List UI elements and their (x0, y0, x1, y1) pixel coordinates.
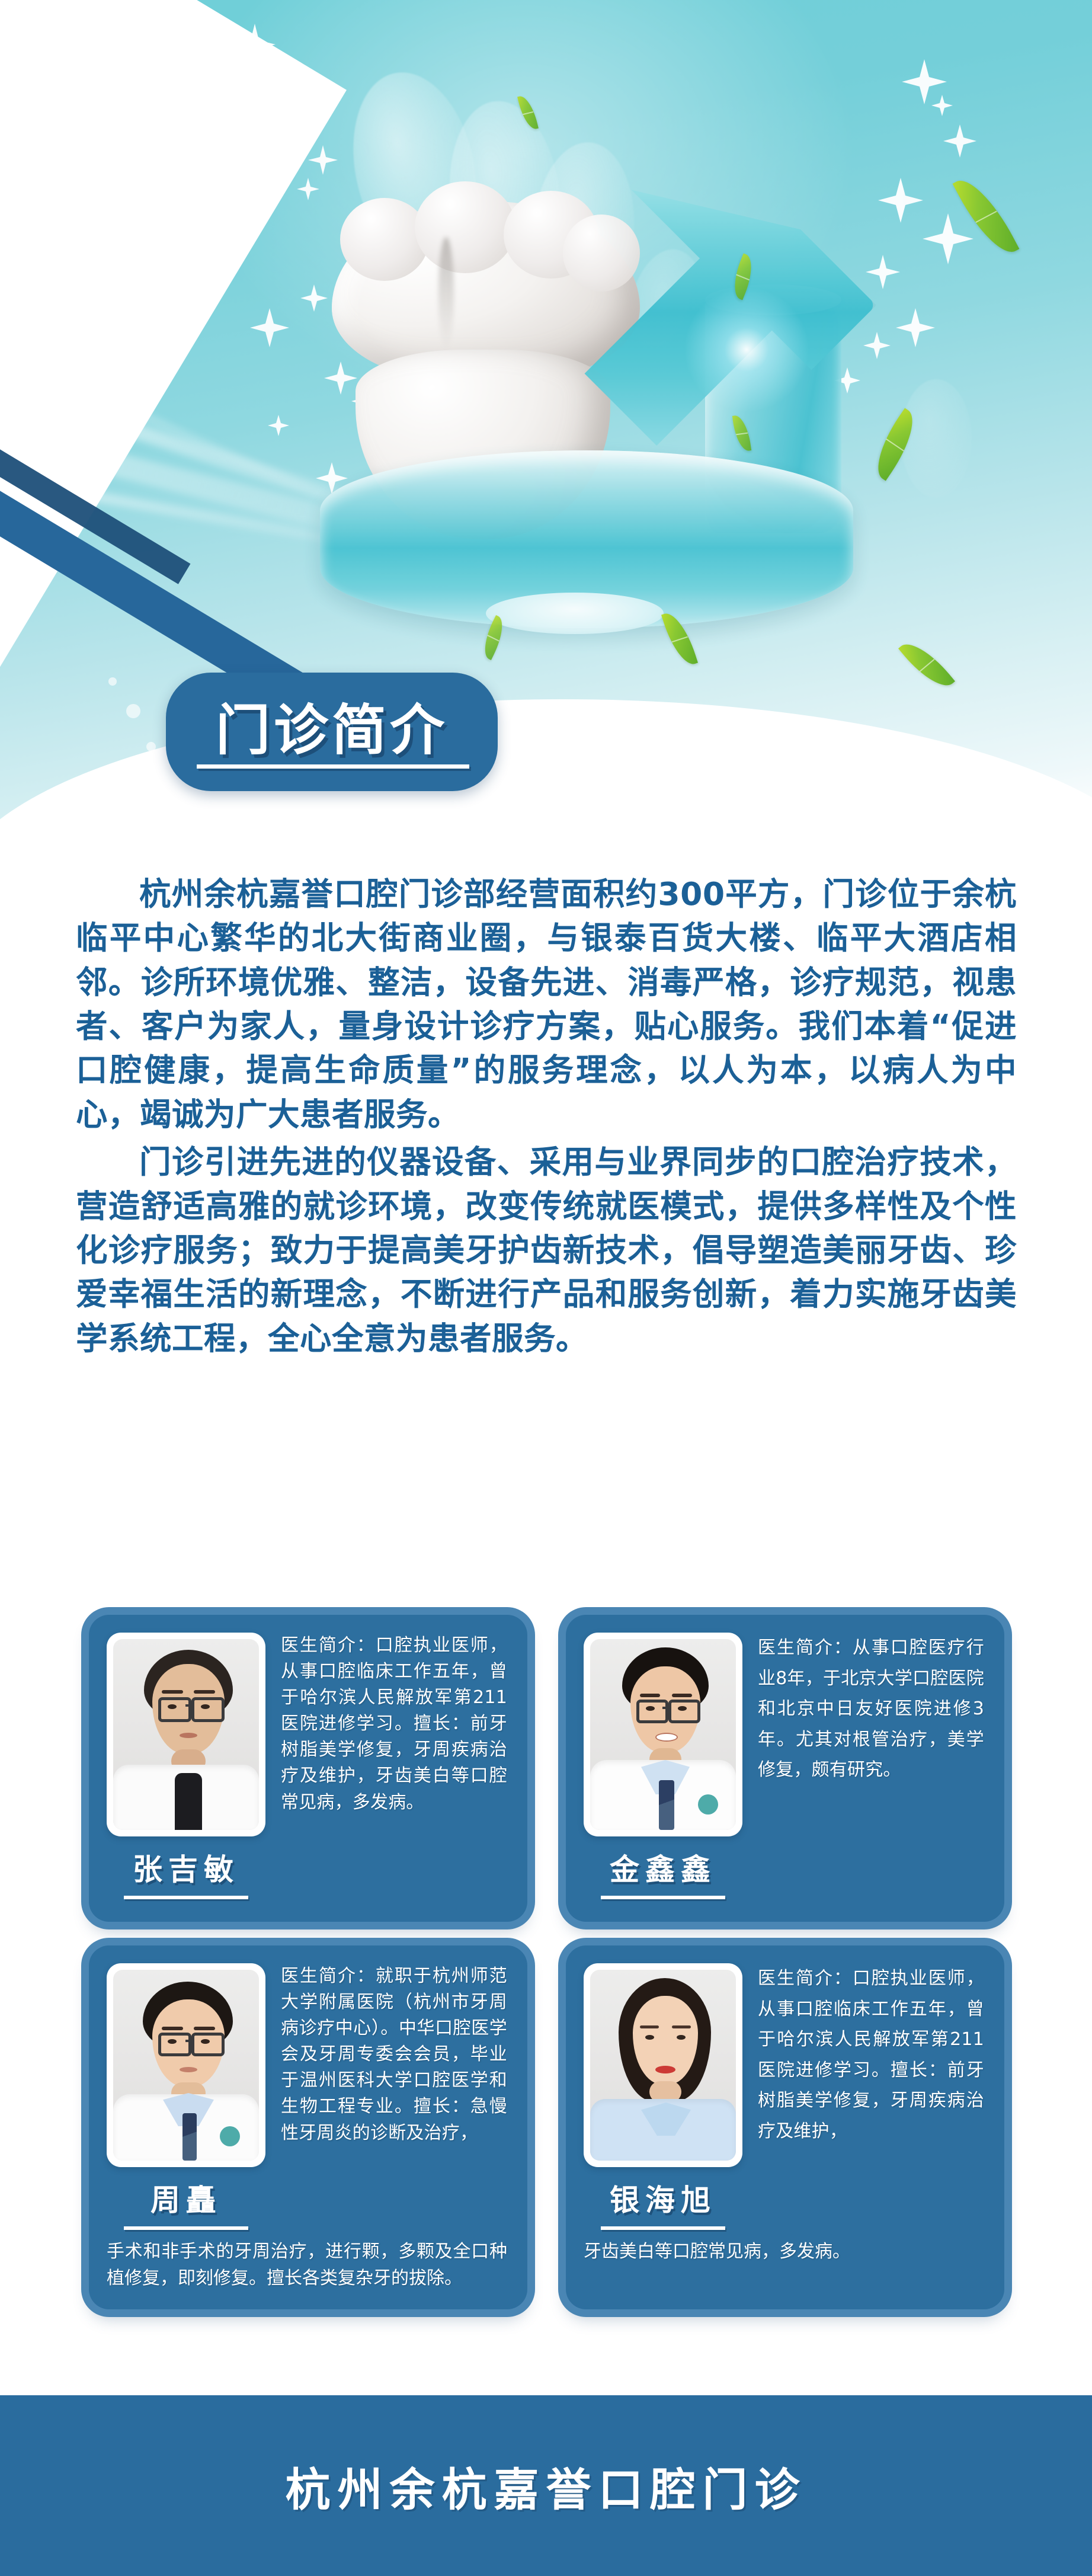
doctor-bio-extra: 手术和非手术的牙周治疗，进行颗，多颗及全口种植修复，即刻修复。擅长各类复杂牙的拔… (107, 2238, 507, 2292)
doctor-name: 周矗 (107, 2177, 265, 2235)
doctor-card[interactable]: 周矗 医生简介：就职于杭州师范大学附属医院（杭州市牙周病诊疗中心）。中华口腔医学… (89, 1945, 527, 2309)
doctor-photo-frame (584, 1633, 742, 1836)
doctor-bio-extra: 牙齿美白等口腔常见病，多发病。 (584, 2238, 984, 2265)
doctor-bio: 医生简介：从事口腔医疗行业8年，于北京大学口腔医院和北京中日友好医院进修3年。尤… (758, 1633, 984, 1785)
section-title-badge: 门诊简介 (166, 673, 498, 791)
avatar (590, 1639, 736, 1830)
hero-banner (0, 0, 1092, 824)
doctor-bio: 医生简介：就职于杭州师范大学附属医院（杭州市牙周病诊疗中心）。中华口腔医学会及牙… (281, 1963, 507, 2146)
intro-paragraph-2: 门诊引进先进的仪器设备、采用与业界同步的口腔治疗技术，营造舒适高雅的就诊环境，改… (76, 1140, 1017, 1361)
doctor-card[interactable]: 金鑫鑫 医生简介：从事口腔医疗行业8年，于北京大学口腔医院和北京中日友好医院进修… (566, 1615, 1004, 1922)
ribbon-rim-icon (486, 593, 664, 634)
doctor-bio-text: 医生简介：口腔执业医师，从事口腔临床工作五年，曾于哈尔滨人民解放军第211医院进… (281, 1633, 507, 1816)
clinic-introduction: 杭州余杭嘉誉口腔门诊部经营面积约300平方，门诊位于余杭临平中心繁华的北大街商业… (76, 872, 1017, 1364)
doctor-name-text: 周矗 (150, 2183, 222, 2217)
doctor-card[interactable]: 银海旭 医生简介：口腔执业医师，从事口腔临床工作五年，曾于哈尔滨人民解放军第21… (566, 1945, 1004, 2309)
clinic-name: 杭州余杭嘉誉口腔门诊 (286, 2453, 807, 2519)
doctor-bio-text: 医生简介：从事口腔医疗行业8年，于北京大学口腔医院和北京中日友好医院进修3年。尤… (758, 1633, 984, 1785)
doctor-bio-text: 医生简介：口腔执业医师，从事口腔临床工作五年，曾于哈尔滨人民解放军第211医院进… (758, 1963, 984, 2147)
lens-flare-icon (675, 279, 818, 421)
avatar (113, 1970, 259, 2161)
name-underline (124, 1896, 248, 1899)
doctor-name: 金鑫鑫 (584, 1846, 742, 1904)
doctor-name: 银海旭 (584, 2177, 742, 2235)
intro-paragraph-1: 杭州余杭嘉誉口腔门诊部经营面积约300平方，门诊位于余杭临平中心繁华的北大街商业… (76, 872, 1017, 1137)
doctor-bio-text: 医生简介：就职于杭州师范大学附属医院（杭州市牙周病诊疗中心）。中华口腔医学会及牙… (281, 1963, 507, 2146)
avatar (590, 1970, 736, 2161)
page-title: 门诊简介 (216, 686, 448, 765)
name-underline (601, 2226, 725, 2230)
doctor-bio: 医生简介：口腔执业医师，从事口腔临床工作五年，曾于哈尔滨人民解放军第211医院进… (758, 1963, 984, 2147)
avatar (113, 1639, 259, 1830)
doctor-card[interactable]: 张吉敏 医生简介：口腔执业医师，从事口腔临床工作五年，曾于哈尔滨人民解放军第21… (89, 1615, 527, 1922)
doctor-photo-frame (107, 1963, 265, 2167)
doctor-bio: 医生简介：口腔执业医师，从事口腔临床工作五年，曾于哈尔滨人民解放军第211医院进… (281, 1633, 507, 1816)
doctor-photo-frame (107, 1633, 265, 1836)
doctor-card-grid: 张吉敏 医生简介：口腔执业医师，从事口腔临床工作五年，曾于哈尔滨人民解放军第21… (89, 1615, 1004, 2309)
doctor-name-text: 张吉敏 (133, 1852, 239, 1887)
doctor-name: 张吉敏 (107, 1846, 265, 1904)
name-underline (124, 2226, 248, 2230)
poster-root: 门诊简介 杭州余杭嘉誉口腔门诊部经营面积约300平方，门诊位于余杭临平中心繁华的… (0, 0, 1092, 2576)
footer-bar: 杭州余杭嘉誉口腔门诊 (0, 2395, 1092, 2576)
doctor-name-text: 金鑫鑫 (610, 1852, 716, 1887)
doctor-name-text: 银海旭 (610, 2183, 716, 2217)
name-underline (601, 1896, 725, 1899)
doctor-photo-frame (584, 1963, 742, 2167)
